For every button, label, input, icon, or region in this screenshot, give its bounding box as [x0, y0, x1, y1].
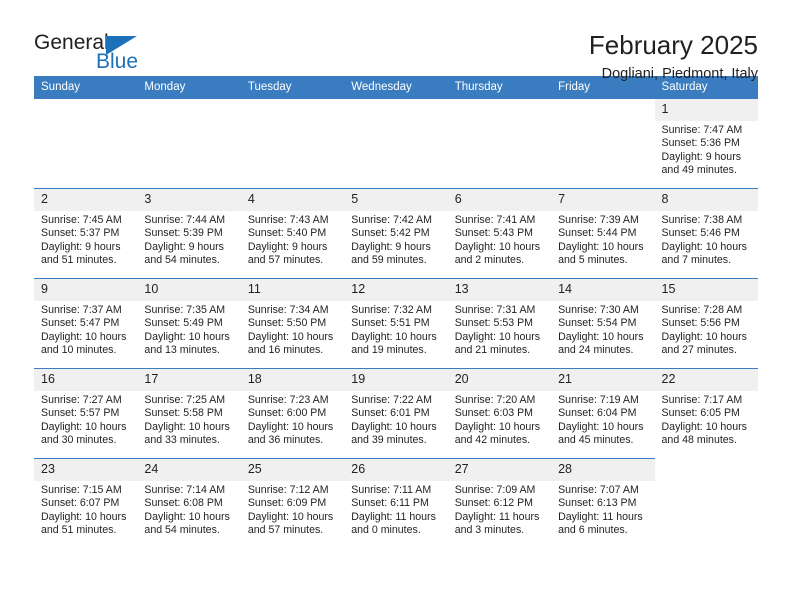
sunset-text: Sunset: 5:44 PM: [558, 227, 648, 240]
calendar-week-row: 1Sunrise: 7:47 AMSunset: 5:36 PMDaylight…: [34, 99, 758, 189]
sunrise-text: Sunrise: 7:32 AM: [351, 304, 441, 317]
daylight-text-line1: Daylight: 10 hours: [248, 421, 338, 434]
sunset-text: Sunset: 5:56 PM: [662, 317, 752, 330]
sunrise-text: Sunrise: 7:14 AM: [144, 484, 234, 497]
daylight-text-line2: and 42 minutes.: [455, 434, 545, 447]
sunset-text: Sunset: 6:01 PM: [351, 407, 441, 420]
sunset-text: Sunset: 5:42 PM: [351, 227, 441, 240]
day-info: Sunrise: 7:23 AMSunset: 6:00 PMDaylight:…: [241, 391, 344, 448]
day-info: Sunrise: 7:15 AMSunset: 6:07 PMDaylight:…: [34, 481, 137, 538]
daylight-text-line1: Daylight: 9 hours: [248, 241, 338, 254]
daylight-text-line1: Daylight: 10 hours: [558, 241, 648, 254]
sunrise-text: Sunrise: 7:09 AM: [455, 484, 545, 497]
sunset-text: Sunset: 5:58 PM: [144, 407, 234, 420]
sunrise-text: Sunrise: 7:23 AM: [248, 394, 338, 407]
calendar-day-cell[interactable]: 22Sunrise: 7:17 AMSunset: 6:05 PMDayligh…: [655, 369, 758, 459]
calendar-day-cell[interactable]: 12Sunrise: 7:32 AMSunset: 5:51 PMDayligh…: [344, 279, 447, 369]
sunset-text: Sunset: 6:09 PM: [248, 497, 338, 510]
calendar-week-row: 23Sunrise: 7:15 AMSunset: 6:07 PMDayligh…: [34, 459, 758, 549]
calendar-day-cell[interactable]: 28Sunrise: 7:07 AMSunset: 6:13 PMDayligh…: [551, 459, 654, 549]
day-info: Sunrise: 7:38 AMSunset: 5:46 PMDaylight:…: [655, 211, 758, 268]
day-number: 17: [137, 369, 240, 391]
daylight-text-line1: Daylight: 10 hours: [144, 421, 234, 434]
calendar-day-cell[interactable]: 27Sunrise: 7:09 AMSunset: 6:12 PMDayligh…: [448, 459, 551, 549]
sunrise-text: Sunrise: 7:22 AM: [351, 394, 441, 407]
calendar-day-cell-empty: [551, 99, 654, 189]
sunset-text: Sunset: 5:54 PM: [558, 317, 648, 330]
sunrise-text: Sunrise: 7:07 AM: [558, 484, 648, 497]
day-info: Sunrise: 7:47 AMSunset: 5:36 PMDaylight:…: [655, 121, 758, 178]
sunset-text: Sunset: 6:13 PM: [558, 497, 648, 510]
daylight-text-line2: and 24 minutes.: [558, 344, 648, 357]
calendar-day-cell[interactable]: 20Sunrise: 7:20 AMSunset: 6:03 PMDayligh…: [448, 369, 551, 459]
sunrise-text: Sunrise: 7:19 AM: [558, 394, 648, 407]
calendar-day-cell[interactable]: 21Sunrise: 7:19 AMSunset: 6:04 PMDayligh…: [551, 369, 654, 459]
sunrise-text: Sunrise: 7:27 AM: [41, 394, 131, 407]
page-header: General Blue February 2025 Dogliani, Pie…: [34, 0, 758, 70]
sunrise-text: Sunrise: 7:38 AM: [662, 214, 752, 227]
calendar-week-row: 2Sunrise: 7:45 AMSunset: 5:37 PMDaylight…: [34, 189, 758, 279]
calendar-day-cell-empty: [655, 459, 758, 549]
daylight-text-line2: and 0 minutes.: [351, 524, 441, 537]
daylight-text-line2: and 16 minutes.: [248, 344, 338, 357]
daylight-text-line2: and 54 minutes.: [144, 254, 234, 267]
daylight-text-line2: and 51 minutes.: [41, 254, 131, 267]
daylight-text-line2: and 39 minutes.: [351, 434, 441, 447]
calendar-day-cell[interactable]: 24Sunrise: 7:14 AMSunset: 6:08 PMDayligh…: [137, 459, 240, 549]
daylight-text-line1: Daylight: 9 hours: [144, 241, 234, 254]
daylight-text-line1: Daylight: 9 hours: [351, 241, 441, 254]
daylight-text-line2: and 54 minutes.: [144, 524, 234, 537]
triangle-logo-icon: [106, 36, 137, 55]
sunset-text: Sunset: 5:53 PM: [455, 317, 545, 330]
daylight-text-line2: and 3 minutes.: [455, 524, 545, 537]
daylight-text-line2: and 5 minutes.: [558, 254, 648, 267]
daylight-text-line2: and 19 minutes.: [351, 344, 441, 357]
sunrise-text: Sunrise: 7:35 AM: [144, 304, 234, 317]
sunset-text: Sunset: 6:11 PM: [351, 497, 441, 510]
calendar-body: 1Sunrise: 7:47 AMSunset: 5:36 PMDaylight…: [34, 99, 758, 549]
day-number: 28: [551, 459, 654, 481]
day-info: Sunrise: 7:44 AMSunset: 5:39 PMDaylight:…: [137, 211, 240, 268]
sunset-text: Sunset: 5:43 PM: [455, 227, 545, 240]
calendar-day-cell[interactable]: 5Sunrise: 7:42 AMSunset: 5:42 PMDaylight…: [344, 189, 447, 279]
calendar-week-row: 16Sunrise: 7:27 AMSunset: 5:57 PMDayligh…: [34, 369, 758, 459]
calendar-page: General Blue February 2025 Dogliani, Pie…: [0, 0, 792, 612]
day-info: Sunrise: 7:39 AMSunset: 5:44 PMDaylight:…: [551, 211, 654, 268]
daylight-text-line1: Daylight: 11 hours: [558, 511, 648, 524]
logo-word-general: General: [34, 32, 109, 54]
day-number: 25: [241, 459, 344, 481]
day-info: Sunrise: 7:28 AMSunset: 5:56 PMDaylight:…: [655, 301, 758, 358]
day-number: 11: [241, 279, 344, 301]
day-info: Sunrise: 7:31 AMSunset: 5:53 PMDaylight:…: [448, 301, 551, 358]
day-number: 2: [34, 189, 137, 211]
day-info: Sunrise: 7:17 AMSunset: 6:05 PMDaylight:…: [655, 391, 758, 448]
calendar-day-cell[interactable]: 18Sunrise: 7:23 AMSunset: 6:00 PMDayligh…: [241, 369, 344, 459]
sunset-text: Sunset: 5:39 PM: [144, 227, 234, 240]
sunrise-text: Sunrise: 7:41 AM: [455, 214, 545, 227]
sunrise-text: Sunrise: 7:20 AM: [455, 394, 545, 407]
sunrise-text: Sunrise: 7:45 AM: [41, 214, 131, 227]
sunrise-text: Sunrise: 7:47 AM: [662, 124, 752, 137]
sunrise-text: Sunrise: 7:11 AM: [351, 484, 441, 497]
day-number: 26: [344, 459, 447, 481]
daylight-text-line2: and 51 minutes.: [41, 524, 131, 537]
sunset-text: Sunset: 5:57 PM: [41, 407, 131, 420]
daylight-text-line1: Daylight: 10 hours: [662, 241, 752, 254]
day-number: 10: [137, 279, 240, 301]
daylight-text-line1: Daylight: 10 hours: [351, 421, 441, 434]
day-number: 3: [137, 189, 240, 211]
day-number: 15: [655, 279, 758, 301]
calendar-day-cell[interactable]: 15Sunrise: 7:28 AMSunset: 5:56 PMDayligh…: [655, 279, 758, 369]
sunset-text: Sunset: 5:36 PM: [662, 137, 752, 150]
day-info: Sunrise: 7:20 AMSunset: 6:03 PMDaylight:…: [448, 391, 551, 448]
day-info: Sunrise: 7:09 AMSunset: 6:12 PMDaylight:…: [448, 481, 551, 538]
sunrise-text: Sunrise: 7:15 AM: [41, 484, 131, 497]
daylight-text-line1: Daylight: 10 hours: [662, 421, 752, 434]
calendar-day-cell-empty: [344, 99, 447, 189]
sunrise-text: Sunrise: 7:28 AM: [662, 304, 752, 317]
sunset-text: Sunset: 6:07 PM: [41, 497, 131, 510]
day-info: Sunrise: 7:35 AMSunset: 5:49 PMDaylight:…: [137, 301, 240, 358]
daylight-text-line1: Daylight: 10 hours: [144, 331, 234, 344]
day-info: Sunrise: 7:11 AMSunset: 6:11 PMDaylight:…: [344, 481, 447, 538]
day-info: Sunrise: 7:37 AMSunset: 5:47 PMDaylight:…: [34, 301, 137, 358]
calendar-day-cell[interactable]: 1Sunrise: 7:47 AMSunset: 5:36 PMDaylight…: [655, 99, 758, 189]
daylight-text-line2: and 10 minutes.: [41, 344, 131, 357]
calendar-table: SundayMondayTuesdayWednesdayThursdayFrid…: [34, 76, 758, 549]
day-info: Sunrise: 7:32 AMSunset: 5:51 PMDaylight:…: [344, 301, 447, 358]
day-info: Sunrise: 7:07 AMSunset: 6:13 PMDaylight:…: [551, 481, 654, 538]
sunrise-text: Sunrise: 7:34 AM: [248, 304, 338, 317]
sunrise-text: Sunrise: 7:30 AM: [558, 304, 648, 317]
calendar-day-cell[interactable]: 14Sunrise: 7:30 AMSunset: 5:54 PMDayligh…: [551, 279, 654, 369]
sunset-text: Sunset: 5:37 PM: [41, 227, 131, 240]
calendar-day-cell[interactable]: 23Sunrise: 7:15 AMSunset: 6:07 PMDayligh…: [34, 459, 137, 549]
sunrise-text: Sunrise: 7:37 AM: [41, 304, 131, 317]
calendar-day-cell[interactable]: 6Sunrise: 7:41 AMSunset: 5:43 PMDaylight…: [448, 189, 551, 279]
calendar-day-cell[interactable]: 7Sunrise: 7:39 AMSunset: 5:44 PMDaylight…: [551, 189, 654, 279]
daylight-text-line2: and 59 minutes.: [351, 254, 441, 267]
sunrise-text: Sunrise: 7:17 AM: [662, 394, 752, 407]
sunset-text: Sunset: 6:05 PM: [662, 407, 752, 420]
day-number: 20: [448, 369, 551, 391]
daylight-text-line1: Daylight: 10 hours: [144, 511, 234, 524]
day-number: 24: [137, 459, 240, 481]
daylight-text-line1: Daylight: 10 hours: [248, 331, 338, 344]
sunrise-text: Sunrise: 7:43 AM: [248, 214, 338, 227]
daylight-text-line2: and 21 minutes.: [455, 344, 545, 357]
daylight-text-line2: and 57 minutes.: [248, 524, 338, 537]
logo-blue-text: Blue: [96, 52, 214, 72]
daylight-text-line1: Daylight: 10 hours: [41, 331, 131, 344]
day-info: Sunrise: 7:25 AMSunset: 5:58 PMDaylight:…: [137, 391, 240, 448]
calendar-day-cell[interactable]: 16Sunrise: 7:27 AMSunset: 5:57 PMDayligh…: [34, 369, 137, 459]
daylight-text-line1: Daylight: 10 hours: [455, 331, 545, 344]
daylight-text-line1: Daylight: 11 hours: [351, 511, 441, 524]
sunset-text: Sunset: 6:03 PM: [455, 407, 545, 420]
weekday-header-wednesday: Wednesday: [344, 76, 447, 99]
sunset-text: Sunset: 5:50 PM: [248, 317, 338, 330]
daylight-text-line2: and 6 minutes.: [558, 524, 648, 537]
daylight-text-line2: and 48 minutes.: [662, 434, 752, 447]
title-block: February 2025 Dogliani, Piedmont, Italy: [589, 30, 758, 84]
day-number: 9: [34, 279, 137, 301]
daylight-text-line1: Daylight: 10 hours: [662, 331, 752, 344]
sunset-text: Sunset: 5:46 PM: [662, 227, 752, 240]
day-number: 27: [448, 459, 551, 481]
calendar-day-cell[interactable]: 4Sunrise: 7:43 AMSunset: 5:40 PMDaylight…: [241, 189, 344, 279]
day-number: 14: [551, 279, 654, 301]
weekday-header-thursday: Thursday: [448, 76, 551, 99]
calendar-day-cell[interactable]: 17Sunrise: 7:25 AMSunset: 5:58 PMDayligh…: [137, 369, 240, 459]
day-info: Sunrise: 7:19 AMSunset: 6:04 PMDaylight:…: [551, 391, 654, 448]
daylight-text-line2: and 33 minutes.: [144, 434, 234, 447]
daylight-text-line2: and 49 minutes.: [662, 164, 752, 177]
day-number: 1: [655, 99, 758, 121]
sunset-text: Sunset: 5:47 PM: [41, 317, 131, 330]
calendar-day-cell[interactable]: 19Sunrise: 7:22 AMSunset: 6:01 PMDayligh…: [344, 369, 447, 459]
calendar-day-cell-empty: [448, 99, 551, 189]
day-info: Sunrise: 7:41 AMSunset: 5:43 PMDaylight:…: [448, 211, 551, 268]
daylight-text-line1: Daylight: 10 hours: [248, 511, 338, 524]
sunset-text: Sunset: 5:49 PM: [144, 317, 234, 330]
daylight-text-line2: and 13 minutes.: [144, 344, 234, 357]
day-number: 16: [34, 369, 137, 391]
calendar-day-cell-empty: [34, 99, 137, 189]
day-number: 13: [448, 279, 551, 301]
calendar-day-cell-empty: [241, 99, 344, 189]
daylight-text-line1: Daylight: 9 hours: [662, 151, 752, 164]
sunset-text: Sunset: 5:40 PM: [248, 227, 338, 240]
weekday-header-tuesday: Tuesday: [241, 76, 344, 99]
page-title: February 2025: [589, 30, 758, 60]
calendar-day-cell-empty: [137, 99, 240, 189]
sunrise-text: Sunrise: 7:42 AM: [351, 214, 441, 227]
calendar-day-cell[interactable]: 2Sunrise: 7:45 AMSunset: 5:37 PMDaylight…: [34, 189, 137, 279]
sunset-text: Sunset: 6:12 PM: [455, 497, 545, 510]
daylight-text-line1: Daylight: 11 hours: [455, 511, 545, 524]
daylight-text-line1: Daylight: 10 hours: [41, 421, 131, 434]
daylight-text-line2: and 2 minutes.: [455, 254, 545, 267]
daylight-text-line1: Daylight: 10 hours: [351, 331, 441, 344]
day-info: Sunrise: 7:22 AMSunset: 6:01 PMDaylight:…: [344, 391, 447, 448]
day-info: Sunrise: 7:30 AMSunset: 5:54 PMDaylight:…: [551, 301, 654, 358]
day-info: Sunrise: 7:42 AMSunset: 5:42 PMDaylight:…: [344, 211, 447, 268]
calendar-day-cell[interactable]: 11Sunrise: 7:34 AMSunset: 5:50 PMDayligh…: [241, 279, 344, 369]
calendar-day-cell[interactable]: 13Sunrise: 7:31 AMSunset: 5:53 PMDayligh…: [448, 279, 551, 369]
weekday-header-monday: Monday: [137, 76, 240, 99]
daylight-text-line2: and 27 minutes.: [662, 344, 752, 357]
sunset-text: Sunset: 6:08 PM: [144, 497, 234, 510]
daylight-text-line2: and 57 minutes.: [248, 254, 338, 267]
day-number: 18: [241, 369, 344, 391]
sunrise-text: Sunrise: 7:39 AM: [558, 214, 648, 227]
calendar-week-row: 9Sunrise: 7:37 AMSunset: 5:47 PMDaylight…: [34, 279, 758, 369]
calendar-day-cell[interactable]: 26Sunrise: 7:11 AMSunset: 6:11 PMDayligh…: [344, 459, 447, 549]
day-number: 8: [655, 189, 758, 211]
day-info: Sunrise: 7:43 AMSunset: 5:40 PMDaylight:…: [241, 211, 344, 268]
daylight-text-line1: Daylight: 10 hours: [455, 241, 545, 254]
day-number: 7: [551, 189, 654, 211]
calendar-day-cell[interactable]: 25Sunrise: 7:12 AMSunset: 6:09 PMDayligh…: [241, 459, 344, 549]
day-info: Sunrise: 7:12 AMSunset: 6:09 PMDaylight:…: [241, 481, 344, 538]
daylight-text-line1: Daylight: 10 hours: [455, 421, 545, 434]
day-info: Sunrise: 7:27 AMSunset: 5:57 PMDaylight:…: [34, 391, 137, 448]
daylight-text-line1: Daylight: 10 hours: [558, 331, 648, 344]
daylight-text-line2: and 36 minutes.: [248, 434, 338, 447]
calendar-day-cell[interactable]: 10Sunrise: 7:35 AMSunset: 5:49 PMDayligh…: [137, 279, 240, 369]
day-number: 19: [344, 369, 447, 391]
daylight-text-line2: and 45 minutes.: [558, 434, 648, 447]
weekday-header-sunday: Sunday: [34, 76, 137, 99]
day-number: 22: [655, 369, 758, 391]
sunset-text: Sunset: 5:51 PM: [351, 317, 441, 330]
calendar-day-cell[interactable]: 8Sunrise: 7:38 AMSunset: 5:46 PMDaylight…: [655, 189, 758, 279]
day-number: 21: [551, 369, 654, 391]
sunset-text: Sunset: 6:00 PM: [248, 407, 338, 420]
logo-general-text: General: [34, 31, 109, 54]
calendar-day-cell[interactable]: 3Sunrise: 7:44 AMSunset: 5:39 PMDaylight…: [137, 189, 240, 279]
daylight-text-line2: and 7 minutes.: [662, 254, 752, 267]
sunrise-text: Sunrise: 7:31 AM: [455, 304, 545, 317]
sunset-text: Sunset: 6:04 PM: [558, 407, 648, 420]
day-number: 6: [448, 189, 551, 211]
day-number: 4: [241, 189, 344, 211]
calendar-day-cell[interactable]: 9Sunrise: 7:37 AMSunset: 5:47 PMDaylight…: [34, 279, 137, 369]
day-number: 5: [344, 189, 447, 211]
sunrise-text: Sunrise: 7:25 AM: [144, 394, 234, 407]
daylight-text-line1: Daylight: 10 hours: [558, 421, 648, 434]
day-number: 12: [344, 279, 447, 301]
daylight-text-line1: Daylight: 9 hours: [41, 241, 131, 254]
day-number: 23: [34, 459, 137, 481]
day-info: Sunrise: 7:34 AMSunset: 5:50 PMDaylight:…: [241, 301, 344, 358]
daylight-text-line2: and 30 minutes.: [41, 434, 131, 447]
general-blue-logo[interactable]: General Blue: [34, 30, 214, 72]
day-info: Sunrise: 7:14 AMSunset: 6:08 PMDaylight:…: [137, 481, 240, 538]
day-info: Sunrise: 7:45 AMSunset: 5:37 PMDaylight:…: [34, 211, 137, 268]
sunrise-text: Sunrise: 7:12 AM: [248, 484, 338, 497]
daylight-text-line1: Daylight: 10 hours: [41, 511, 131, 524]
sunrise-text: Sunrise: 7:44 AM: [144, 214, 234, 227]
